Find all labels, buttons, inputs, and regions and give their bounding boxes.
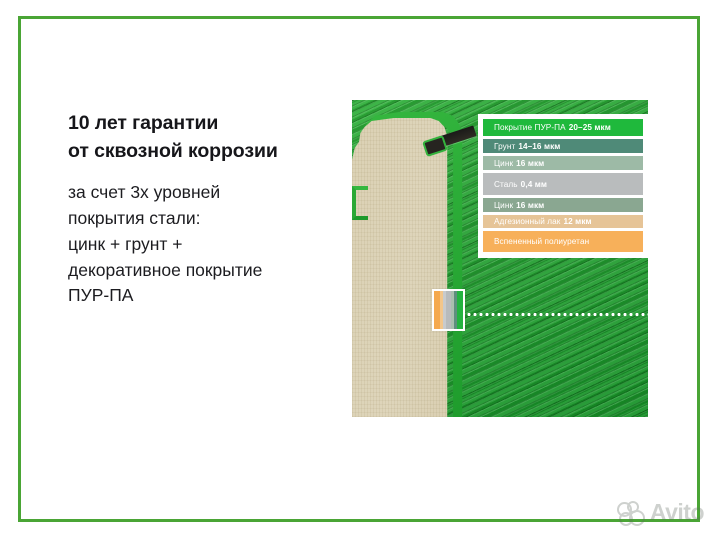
legend-row-label: Покрытие ПУР-ПА	[494, 123, 566, 132]
panel-edge-notch	[352, 186, 368, 220]
legend-row-label: Цинк	[494, 159, 513, 168]
legend-row-6: Адгезионный лак12 мкм	[483, 215, 643, 228]
slide-canvas: 10 лет гарантии от сквозной коррозии за …	[0, 0, 720, 540]
legend-row-5: Цинк16 мкм	[483, 198, 643, 212]
legend-row-value: 20–25 мкм	[569, 123, 611, 132]
legend-row-value: 16 мкм	[516, 201, 544, 210]
avito-logo-icon	[617, 501, 647, 525]
layer-stripe-sample	[432, 289, 465, 331]
body-line-4: декоративное покрытие	[68, 258, 333, 284]
coating-layers-legend: Покрытие ПУР-ПА20–25 мкмГрунт14–16 мкмЦи…	[478, 114, 648, 258]
legend-row-value: 14–16 мкм	[518, 142, 560, 151]
legend-row-label: Вспененный полиуретан	[494, 237, 589, 246]
legend-row-label: Адгезионный лак	[494, 217, 561, 226]
legend-row-value: 16 мкм	[516, 159, 544, 168]
legend-row-2: Грунт14–16 мкм	[483, 139, 643, 153]
legend-row-label: Сталь	[494, 180, 518, 189]
legend-row-value: 0,4 мм	[521, 180, 547, 189]
avito-wordmark: Avito	[650, 499, 704, 526]
legend-row-4: Сталь0,4 мм	[483, 173, 643, 195]
callout-dotted-line-vertical	[649, 270, 652, 316]
legend-row-7: Вспененный полиуретан	[483, 231, 643, 252]
body-line-5: ПУР-ПА	[68, 283, 333, 309]
legend-row-3: Цинк16 мкм	[483, 156, 643, 170]
heading-line-2: от сквозной коррозии	[68, 138, 333, 166]
text-column: 10 лет гарантии от сквозной коррозии за …	[68, 110, 333, 309]
legend-row-label: Грунт	[494, 142, 515, 151]
heading-line-1: 10 лет гарантии	[68, 110, 333, 138]
callout-dotted-line-horizontal	[466, 313, 652, 316]
legend-row-value: 12 мкм	[564, 217, 592, 226]
body-line-2: покрытия стали:	[68, 206, 333, 232]
legend-row-1: Покрытие ПУР-ПА20–25 мкм	[483, 119, 643, 136]
body-line-1: за счет 3х уровней	[68, 180, 333, 206]
body-line-3: цинк + грунт +	[68, 232, 333, 258]
stripe-7	[457, 291, 463, 329]
avito-watermark: Avito	[617, 499, 704, 526]
legend-row-label: Цинк	[494, 201, 513, 210]
